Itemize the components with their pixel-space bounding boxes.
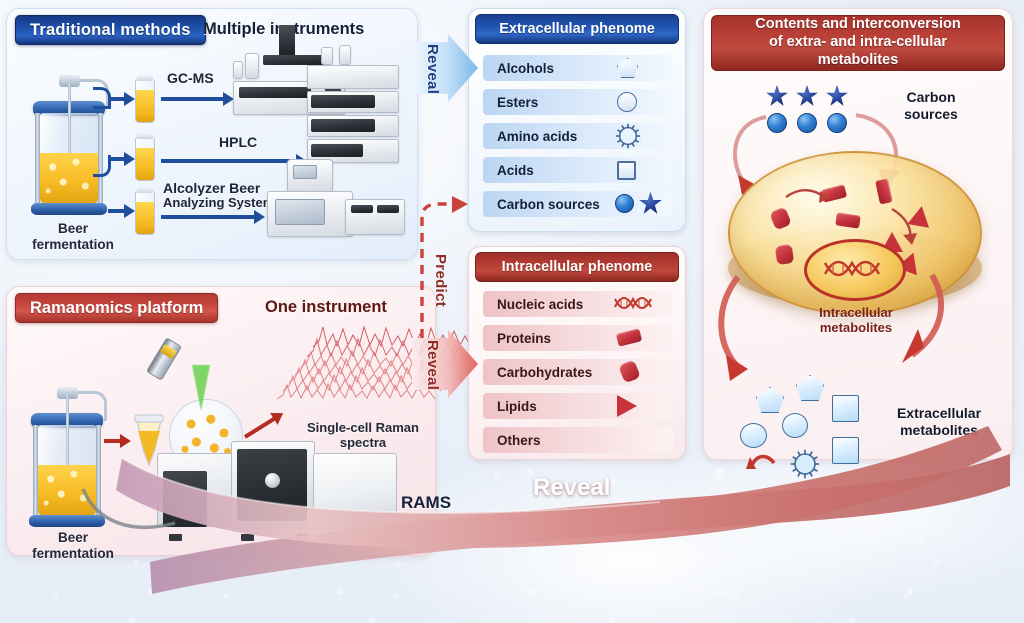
arrow-to-vial-gcms (108, 97, 126, 101)
panel-contents-interconversion: Contents and interconversion of extra- a… (703, 8, 1013, 460)
intracellular-label-nucleic-acids: Nucleic acids (497, 297, 583, 312)
extracellular-square-1 (832, 395, 859, 422)
extracellular-row-acids[interactable]: Acids (483, 157, 673, 183)
route-label-hplc: HPLC (219, 135, 257, 151)
alcolyzer-instrument-icon (259, 169, 409, 245)
extracellular-label-acids: Acids (497, 163, 534, 178)
contents-panel-title: Contents and interconversion of extra- a… (711, 15, 1005, 71)
panel-traditional-methods: Traditional methods Multiple instruments… (6, 8, 418, 260)
secretion-arrows-icon (714, 271, 974, 411)
reveal-top-connector-arrow (412, 34, 484, 164)
figure-canvas: Traditional methods Multiple instruments… (0, 0, 1024, 623)
intracellular-row-proteins[interactable]: Proteins (483, 325, 673, 351)
circle-outline-icon (617, 92, 637, 112)
extracellular-label-alcohols: Alcohols (497, 61, 554, 76)
spiked-circle-icon (615, 123, 641, 149)
hplc-instrument-icon (307, 57, 403, 173)
predict-connector-label: Predict (432, 254, 449, 307)
square-outline-icon (617, 161, 636, 180)
ramanomics-platform-banner: Ramanomics platform (15, 293, 218, 323)
panel-extracellular-phenome: Extracellular phenome Alcohols Esters Am… (468, 8, 686, 232)
reveal-ribbon-label: Reveal (533, 474, 610, 502)
arrow-alcolyzer-to-instrument (161, 215, 256, 219)
beer-fermentation-label-traditional: Beer fermentation (25, 221, 121, 252)
sample-vial-gcms (135, 79, 155, 123)
extracellular-label-amino-acids: Amino acids (497, 129, 577, 144)
laser-beam-icon (192, 365, 210, 411)
sample-vial-alcolyzer (135, 191, 155, 235)
one-instrument-header: One instrument (265, 298, 387, 317)
extracellular-phenome-title: Extracellular phenome (475, 14, 679, 44)
red-triangle-icon (617, 395, 637, 417)
extracellular-row-alcohols[interactable]: Alcohols (483, 55, 673, 81)
intracellular-phenome-title: Intracellular phenome (475, 252, 679, 282)
intracellular-row-lipids[interactable]: Lipids (483, 393, 673, 419)
arrow-gcms-to-instrument (161, 97, 225, 101)
blue-sphere-icon (615, 194, 634, 213)
panel-intracellular-phenome: Intracellular phenome Nucleic acids Prot… (468, 246, 686, 460)
intracellular-label-lipids: Lipids (497, 399, 537, 414)
arrow-hplc-to-instrument (161, 159, 298, 163)
arrow-to-vial-hplc (108, 157, 126, 161)
raman-objective-icon (146, 337, 182, 381)
extracellular-row-esters[interactable]: Esters (483, 89, 673, 115)
reactor-broth-icon (40, 153, 98, 203)
reveal-bottom-connector-label: Reveal (424, 340, 441, 390)
dna-helix-icon (613, 293, 655, 313)
traditional-methods-banner: Traditional methods (15, 15, 206, 45)
route-label-gcms: GC-MS (167, 71, 214, 87)
intracellular-row-carbohydrates[interactable]: Carbohydrates (483, 359, 673, 385)
sample-vial-hplc (135, 137, 155, 181)
reactor-base-icon (31, 203, 107, 215)
reveal-top-connector-label: Reveal (424, 44, 441, 94)
intracellular-label-carbohydrates: Carbohydrates (497, 365, 592, 380)
reveal-ribbon-arrow (0, 432, 1024, 622)
extracellular-label-carbon-sources: Carbon sources (497, 197, 600, 212)
intracellular-label-proteins: Proteins (497, 331, 551, 346)
extracellular-row-amino-acids[interactable]: Amino acids (483, 123, 673, 149)
arrow-to-vial-alcolyzer (108, 209, 126, 213)
extracellular-label-esters: Esters (497, 95, 538, 110)
